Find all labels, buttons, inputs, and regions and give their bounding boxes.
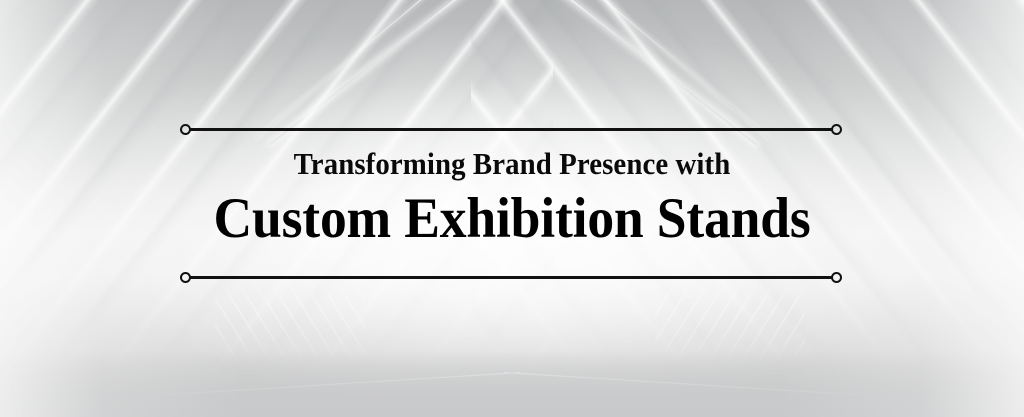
ring-endpoint-icon bbox=[831, 272, 842, 283]
rule-line bbox=[190, 276, 832, 279]
banner-title: Custom Exhibition Stands bbox=[31, 189, 994, 249]
banner-content: Transforming Brand Presence with Custom … bbox=[0, 0, 1024, 417]
ring-endpoint-icon bbox=[831, 124, 842, 135]
rule-line bbox=[190, 128, 832, 131]
divider-rule-top bbox=[180, 122, 842, 136]
banner-subtitle: Transforming Brand Presence with bbox=[36, 148, 988, 179]
headline-block: Transforming Brand Presence with Custom … bbox=[0, 148, 1024, 249]
divider-rule-bottom bbox=[180, 270, 842, 284]
banner-root: Transforming Brand Presence with Custom … bbox=[0, 0, 1024, 417]
